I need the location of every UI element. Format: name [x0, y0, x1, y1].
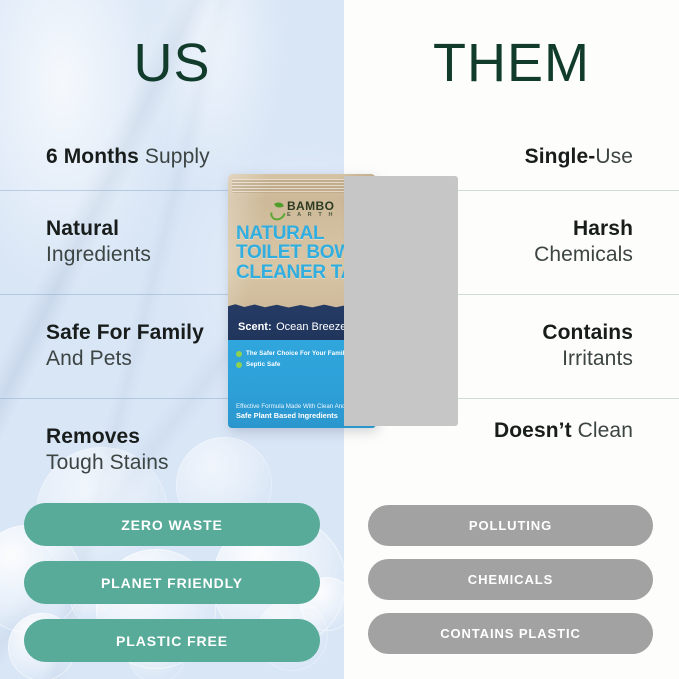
- them-feature-3-trail: Irritants: [562, 346, 633, 372]
- us-badge-planet-friendly[interactable]: PLANET FRIENDLY: [24, 561, 320, 604]
- them-feature-3-lead: Contains: [542, 320, 633, 346]
- us-feature-2-lead: Natural: [46, 216, 119, 242]
- us-feature-3-trail: And Pets: [46, 346, 132, 372]
- them-feature-2-lead: Harsh: [573, 216, 633, 242]
- package-bullet-2-text: Septic Safe: [246, 361, 280, 368]
- us-feature-1: 6 Months Supply: [46, 144, 210, 170]
- us-feature-2-trail: Ingredients: [46, 242, 151, 268]
- them-badge-polluting[interactable]: POLLUTING: [368, 505, 653, 546]
- them-feature-4-lead: Doesn’t: [494, 419, 572, 442]
- them-feature-2-trail: Chemicals: [534, 242, 633, 268]
- page-title-them: THEM: [344, 36, 679, 90]
- package-scent: Scent: Ocean Breeze: [228, 317, 346, 335]
- us-badge-plastic-free[interactable]: PLASTIC FREE: [24, 619, 320, 662]
- them-feature-1-lead: Single-: [525, 145, 596, 168]
- package-scent-label: Scent:: [238, 321, 272, 333]
- them-feature-1-trail: Use: [595, 145, 633, 168]
- page-title-us: US: [0, 36, 344, 90]
- them-badge-list: POLLUTING CHEMICALS CONTAINS PLASTIC: [368, 505, 653, 654]
- us-badge-list: ZERO WASTE PLANET FRIENDLY PLASTIC FREE: [24, 503, 320, 662]
- us-feature-1-lead: 6 Months: [46, 145, 139, 168]
- bullet-dot-icon: [236, 351, 242, 357]
- leaf-icon: [269, 202, 284, 217]
- them-feature-1: Single-Use: [525, 144, 633, 170]
- us-badge-zero-waste[interactable]: ZERO WASTE: [24, 503, 320, 546]
- us-feature-1-trail-text: Supply: [145, 145, 210, 168]
- them-badge-chemicals[interactable]: CHEMICALS: [368, 559, 653, 600]
- brand-tagline: E A R T H: [287, 213, 335, 219]
- brand-name: BAMBO: [287, 200, 335, 212]
- comparison-infographic: US THEM 6 Months Supply Natural Ingredie…: [0, 0, 679, 679]
- package-scent-value: Ocean Breeze: [276, 321, 346, 333]
- us-feature-3-lead: Safe For Family: [46, 320, 204, 346]
- gray-overlay-block: [344, 176, 458, 426]
- them-badge-contains-plastic[interactable]: CONTAINS PLASTIC: [368, 613, 653, 654]
- us-feature-4-trail: Tough Stains: [46, 450, 169, 476]
- us-feature-4-lead: Removes: [46, 424, 140, 450]
- brand-text: BAMBO E A R T H: [287, 200, 335, 219]
- bullet-dot-icon: [236, 362, 242, 368]
- them-feature-4: Doesn’t Clean: [494, 418, 633, 444]
- them-feature-4-trail: Clean: [578, 419, 633, 442]
